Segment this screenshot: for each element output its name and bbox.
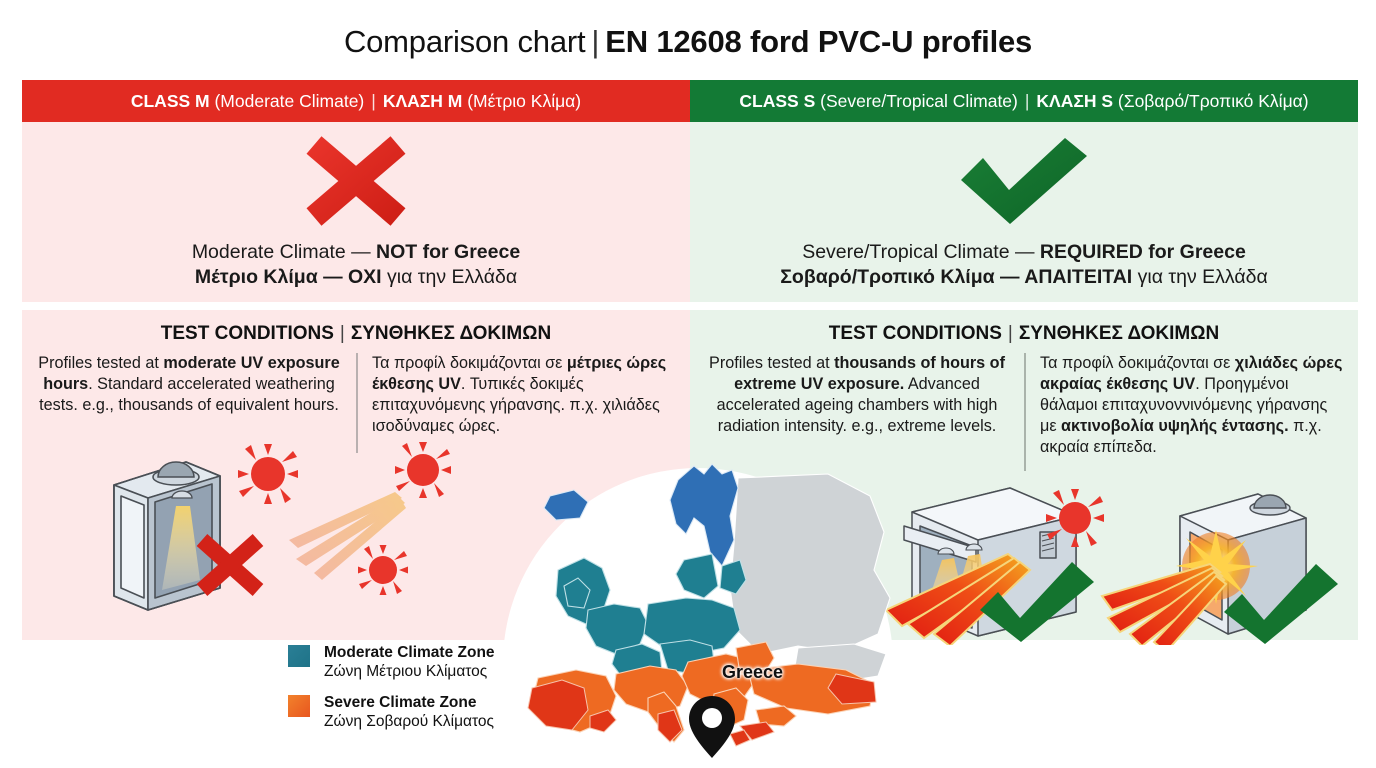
legend-severe-label-el: Ζώνη Σοβαρού Κλίματος xyxy=(324,712,494,731)
cross-mark-wrapper xyxy=(296,122,416,240)
class-m-verdict-en-prefix: Moderate Climate — xyxy=(192,241,376,263)
class-m-verdict-text: Moderate Climate — NOT for Greece Μέτριο… xyxy=(22,240,690,290)
legend-moderate-label-en: Moderate Climate Zone xyxy=(324,643,495,662)
page-title-separator: | xyxy=(585,24,605,59)
class-m-header-regular: (Moderate Climate) xyxy=(214,91,364,112)
europe-map-svg xyxy=(498,448,898,768)
class-m-test-conditions-title: TEST CONDITIONS|ΣΥΝΘΗΚΕΣ ΔΟΚΙΜΩΝ xyxy=(22,310,690,345)
class-m-test-title-en: TEST CONDITIONS xyxy=(161,323,334,344)
uv-rays-severe-b xyxy=(1102,564,1226,645)
sun-icon-1 xyxy=(238,444,298,504)
class-s-verdict-text: Severe/Tropical Climate — REQUIRED for G… xyxy=(690,240,1358,290)
class-s-test-text-el: Τα προφίλ δοκιμάζονται σε χιλιάδες ώρες … xyxy=(1024,353,1352,471)
class-m-test-columns: Profiles tested at moderate UV exposure … xyxy=(22,345,690,453)
class-m-verdict-en: Moderate Climate — NOT for Greece xyxy=(22,240,690,265)
check-mark-icon xyxy=(957,134,1091,228)
class-m-test-text-en: Profiles tested at moderate UV exposure … xyxy=(28,353,356,453)
class-s-header-bold: CLASS S xyxy=(739,91,815,112)
legend-item-moderate-text: Moderate Climate Zone Ζώνη Μέτριου Κλίμα… xyxy=(324,643,495,681)
cross-mark-icon xyxy=(296,135,416,227)
sun-icon-2 xyxy=(395,442,451,498)
class-s-test-title-el: ΣΥΝΘΗΚΕΣ ΔΟΚΙΜΩΝ xyxy=(1019,323,1219,344)
class-m-verdict-el-bold: Μέτριο Κλίμα — ΟΧΙ xyxy=(195,266,382,288)
class-m-verdict-panel: Moderate Climate — NOT for Greece Μέτριο… xyxy=(22,122,690,302)
severe-zone-swatch xyxy=(288,695,310,717)
class-m-test-en-part1: Profiles tested at xyxy=(38,354,163,372)
weathering-chamber-rejected-illustration xyxy=(90,440,470,615)
class-s-test-el-part1: Τα προφίλ δοκιμάζονται σε xyxy=(1040,354,1235,372)
class-m-header: CLASS M (Moderate Climate)|ΚΛΑΣΗ Μ (Μέτρ… xyxy=(22,80,690,122)
legend-item-severe: Severe Climate Zone Ζώνη Σοβαρού Κλίματο… xyxy=(288,693,495,731)
class-s-verdict-el: Σοβαρό/Τροπικό Κλίμα — ΑΠΑΙΤΕΙΤΑΙ για τη… xyxy=(690,265,1358,290)
page-title-primary: Comparison chart xyxy=(344,24,585,59)
class-s-header-regular-el: (Σοβαρό/Τροπικό Κλίμα) xyxy=(1118,91,1309,112)
legend-severe-label-en: Severe Climate Zone xyxy=(324,693,494,712)
check-mark-wrapper xyxy=(957,122,1091,240)
class-s-verdict-en-bold: REQUIRED for Greece xyxy=(1040,241,1246,263)
class-s-test-title-en: TEST CONDITIONS xyxy=(829,323,1002,344)
class-s-verdict-el-suffix: για την Ελλάδα xyxy=(1132,266,1268,288)
class-m-illustration xyxy=(90,440,470,620)
class-s-illustration xyxy=(880,470,1360,650)
page-title-secondary: EN 12608 ford PVC-U profiles xyxy=(605,24,1032,59)
class-s-verdict-panel: Severe/Tropical Climate — REQUIRED for G… xyxy=(690,122,1358,302)
moderate-zone-swatch xyxy=(288,645,310,667)
class-m-verdict-el: Μέτριο Κλίμα — ΟΧΙ για την Ελλάδα xyxy=(22,265,690,290)
class-m-test-title-el: ΣΥΝΘΗΚΕΣ ΔΟΚΙΜΩΝ xyxy=(351,323,551,344)
comparison-chart-infographic: Comparison chart|EN 12608 ford PVC-U pro… xyxy=(0,0,1376,768)
class-s-verdict-el-bold: Σοβαρό/Τροπικό Κλίμα — ΑΠΑΙΤΕΙΤΑΙ xyxy=(780,266,1132,288)
legend-moderate-label-el: Ζώνη Μέτριου Κλίματος xyxy=(324,662,495,681)
class-m-test-text-el: Τα προφίλ δοκιμάζονται σε μέτριες ώρες έ… xyxy=(356,353,684,453)
weathering-chamber-approved-illustration xyxy=(880,470,1360,645)
class-s-header: CLASS S (Severe/Tropical Climate)|ΚΛΑΣΗ … xyxy=(690,80,1358,122)
map-country-label: Greece xyxy=(722,662,783,683)
class-m-header-separator: | xyxy=(364,91,383,112)
class-s-test-conditions-title: TEST CONDITIONS|ΣΥΝΘΗΚΕΣ ΔΟΚΙΜΩΝ xyxy=(690,310,1358,345)
class-m-test-title-sep: | xyxy=(334,323,351,344)
europe-climate-map xyxy=(498,448,898,768)
class-s-verdict-en-prefix: Severe/Tropical Climate — xyxy=(802,241,1040,263)
page-title: Comparison chart|EN 12608 ford PVC-U pro… xyxy=(0,22,1376,62)
class-m-header-regular-el: (Μέτριο Κλίμα) xyxy=(467,91,581,112)
class-s-header-separator: | xyxy=(1018,91,1037,112)
class-m-verdict-el-suffix: για την Ελλάδα xyxy=(382,266,518,288)
class-m-test-el-part1: Τα προφίλ δοκιμάζονται σε xyxy=(372,354,567,372)
class-s-header-bold-el: ΚΛΑΣΗ S xyxy=(1036,91,1113,112)
class-m-header-bold: CLASS M xyxy=(131,91,210,112)
sun-icon-3 xyxy=(358,545,408,595)
class-s-test-el-bold2: ακτινοβολία υψηλής έντασης. xyxy=(1061,417,1289,435)
class-m-verdict-en-bold: NOT for Greece xyxy=(376,241,520,263)
class-s-verdict-en: Severe/Tropical Climate — REQUIRED for G… xyxy=(690,240,1358,265)
class-s-test-en-part1: Profiles tested at xyxy=(709,354,834,372)
class-s-test-title-sep: | xyxy=(1002,323,1019,344)
legend-item-moderate: Moderate Climate Zone Ζώνη Μέτριου Κλίμα… xyxy=(288,643,495,681)
legend-item-severe-text: Severe Climate Zone Ζώνη Σοβαρού Κλίματο… xyxy=(324,693,494,731)
class-s-header-regular: (Severe/Tropical Climate) xyxy=(820,91,1018,112)
class-m-header-bold-el: ΚΛΑΣΗ Μ xyxy=(383,91,463,112)
map-legend: Moderate Climate Zone Ζώνη Μέτριου Κλίμα… xyxy=(288,643,495,743)
